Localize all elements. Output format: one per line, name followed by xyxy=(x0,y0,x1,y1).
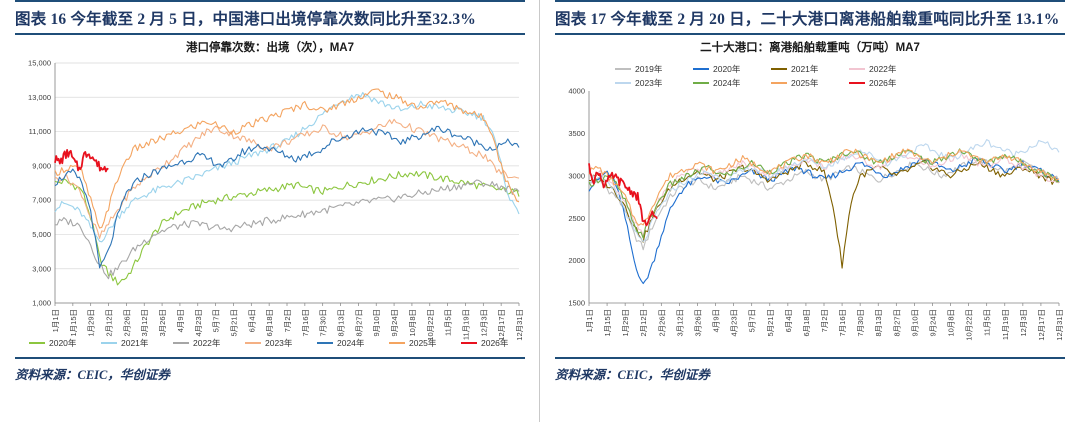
chart-16-area: 1,0003,0005,0007,0009,00011,00013,00015,… xyxy=(15,55,525,355)
svg-text:10月22日: 10月22日 xyxy=(426,309,435,341)
svg-text:2022年: 2022年 xyxy=(193,338,221,348)
svg-text:2026年: 2026年 xyxy=(481,338,509,348)
svg-text:3月26日: 3月26日 xyxy=(158,309,167,337)
svg-text:1月15日: 1月15日 xyxy=(603,309,612,337)
svg-text:2021年: 2021年 xyxy=(121,338,149,348)
svg-text:8月13日: 8月13日 xyxy=(874,309,883,337)
page-root: 图表 16 今年截至 2 月 5 日，中国港口出境停靠次数同比升至32.3% 港… xyxy=(0,0,1080,422)
chart-16-svg: 1,0003,0005,0007,0009,00011,00013,00015,… xyxy=(15,55,525,355)
svg-text:11月5日: 11月5日 xyxy=(983,309,992,336)
svg-text:7月16日: 7月16日 xyxy=(301,309,310,337)
svg-text:7,000: 7,000 xyxy=(32,196,51,205)
svg-text:2023年: 2023年 xyxy=(635,78,663,88)
svg-text:3000: 3000 xyxy=(568,172,585,181)
svg-text:4月23日: 4月23日 xyxy=(194,309,203,337)
svg-text:2025年: 2025年 xyxy=(409,338,437,348)
figure-17-title: 图表 17 今年截至 2 月 20 日，二十大港口离港船舶载重吨同比升至 13.… xyxy=(555,2,1065,33)
svg-text:2000: 2000 xyxy=(568,256,585,265)
chart-17-title: 二十大港口：离港船舶载重吨（万吨）MA7 xyxy=(555,39,1065,55)
svg-text:11月19日: 11月19日 xyxy=(1001,309,1010,340)
svg-text:7月2日: 7月2日 xyxy=(820,309,829,332)
svg-text:6月4日: 6月4日 xyxy=(784,309,793,332)
svg-text:9月24日: 9月24日 xyxy=(928,309,937,337)
svg-text:2月26日: 2月26日 xyxy=(657,309,666,337)
svg-text:7月30日: 7月30日 xyxy=(856,309,865,337)
svg-text:11,000: 11,000 xyxy=(29,127,51,136)
svg-text:10月22日: 10月22日 xyxy=(965,309,974,341)
figure-16-panel: 图表 16 今年截至 2 月 5 日，中国港口出境停靠次数同比升至32.3% 港… xyxy=(0,0,540,422)
svg-text:7月16日: 7月16日 xyxy=(838,309,847,337)
svg-text:1500: 1500 xyxy=(568,299,585,308)
svg-text:2月12日: 2月12日 xyxy=(105,309,114,337)
svg-text:9月10日: 9月10日 xyxy=(910,309,919,337)
svg-text:1月29日: 1月29日 xyxy=(87,309,96,337)
svg-text:5月7日: 5月7日 xyxy=(748,309,757,332)
svg-text:13,000: 13,000 xyxy=(28,93,51,102)
svg-text:5,000: 5,000 xyxy=(32,230,51,239)
svg-text:2月12日: 2月12日 xyxy=(639,309,648,337)
svg-text:6月18日: 6月18日 xyxy=(802,309,811,337)
svg-text:1月15日: 1月15日 xyxy=(69,309,78,337)
figure-16-source: 资料来源：CEIC，华创证券 xyxy=(15,359,525,383)
svg-text:2019年: 2019年 xyxy=(635,64,663,74)
svg-text:12月3日: 12月3日 xyxy=(479,309,488,337)
svg-text:1,000: 1,000 xyxy=(32,299,51,308)
svg-text:3,000: 3,000 xyxy=(32,265,51,274)
svg-text:5月7日: 5月7日 xyxy=(212,309,221,332)
svg-text:12月17日: 12月17日 xyxy=(1037,309,1046,341)
svg-text:2023年: 2023年 xyxy=(265,338,293,348)
svg-text:3月26日: 3月26日 xyxy=(693,309,702,337)
svg-text:9月24日: 9月24日 xyxy=(390,309,399,337)
figure-16-title: 图表 16 今年截至 2 月 5 日，中国港口出境停靠次数同比升至32.3% xyxy=(15,2,525,33)
svg-text:8月27日: 8月27日 xyxy=(892,309,901,337)
chart-16-title: 港口停靠次数：出境（次），MA7 xyxy=(15,39,525,55)
svg-text:4月9日: 4月9日 xyxy=(176,309,185,332)
svg-text:9,000: 9,000 xyxy=(32,162,51,171)
svg-text:2025年: 2025年 xyxy=(791,78,819,88)
figure-17-panel: 图表 17 今年截至 2 月 20 日，二十大港口离港船舶载重吨同比升至 13.… xyxy=(540,0,1080,422)
svg-text:10月8日: 10月8日 xyxy=(947,309,956,337)
svg-text:7月2日: 7月2日 xyxy=(283,309,292,332)
svg-text:2024年: 2024年 xyxy=(337,338,365,348)
svg-text:2020年: 2020年 xyxy=(713,64,741,74)
svg-text:1月1日: 1月1日 xyxy=(585,309,594,332)
svg-text:2500: 2500 xyxy=(568,214,585,223)
svg-text:12月3日: 12月3日 xyxy=(1019,309,1028,337)
svg-text:2026年: 2026年 xyxy=(869,78,897,88)
svg-text:12月17日: 12月17日 xyxy=(497,309,506,341)
figure-17-source: 资料来源：CEIC，华创证券 xyxy=(555,359,1065,383)
chart-17-area: 1500200025003000350040001月1日1月15日1月29日2月… xyxy=(555,55,1065,355)
svg-text:1月29日: 1月29日 xyxy=(621,309,630,337)
svg-text:3月12日: 3月12日 xyxy=(675,309,684,337)
svg-text:15,000: 15,000 xyxy=(28,59,51,68)
svg-text:5月21日: 5月21日 xyxy=(766,309,775,337)
title-rule-right xyxy=(555,33,1065,35)
svg-text:2024年: 2024年 xyxy=(713,78,741,88)
svg-text:4月23日: 4月23日 xyxy=(730,309,739,337)
svg-text:11月19日: 11月19日 xyxy=(461,309,470,340)
svg-text:9月10日: 9月10日 xyxy=(372,309,381,337)
title-rule-left xyxy=(15,33,525,35)
svg-text:6月18日: 6月18日 xyxy=(265,309,274,337)
svg-text:5月21日: 5月21日 xyxy=(229,309,238,337)
svg-text:12月31日: 12月31日 xyxy=(1055,309,1064,341)
svg-text:2022年: 2022年 xyxy=(869,64,897,74)
svg-text:12月31日: 12月31日 xyxy=(515,309,524,341)
svg-text:1月1日: 1月1日 xyxy=(51,309,60,332)
svg-text:2月26日: 2月26日 xyxy=(122,309,131,337)
svg-text:6月4日: 6月4日 xyxy=(247,309,256,332)
svg-text:4月9日: 4月9日 xyxy=(712,309,721,332)
svg-text:8月27日: 8月27日 xyxy=(354,309,363,337)
svg-text:10月8日: 10月8日 xyxy=(408,309,417,337)
svg-text:7月30日: 7月30日 xyxy=(319,309,328,337)
svg-text:3500: 3500 xyxy=(568,129,585,138)
svg-text:8月13日: 8月13日 xyxy=(337,309,346,337)
svg-text:2021年: 2021年 xyxy=(791,64,819,74)
svg-text:4000: 4000 xyxy=(568,87,585,96)
svg-text:2020年: 2020年 xyxy=(49,338,77,348)
svg-text:11月5日: 11月5日 xyxy=(444,309,453,336)
chart-17-svg: 1500200025003000350040001月1日1月15日1月29日2月… xyxy=(555,55,1065,355)
svg-text:3月12日: 3月12日 xyxy=(140,309,149,337)
